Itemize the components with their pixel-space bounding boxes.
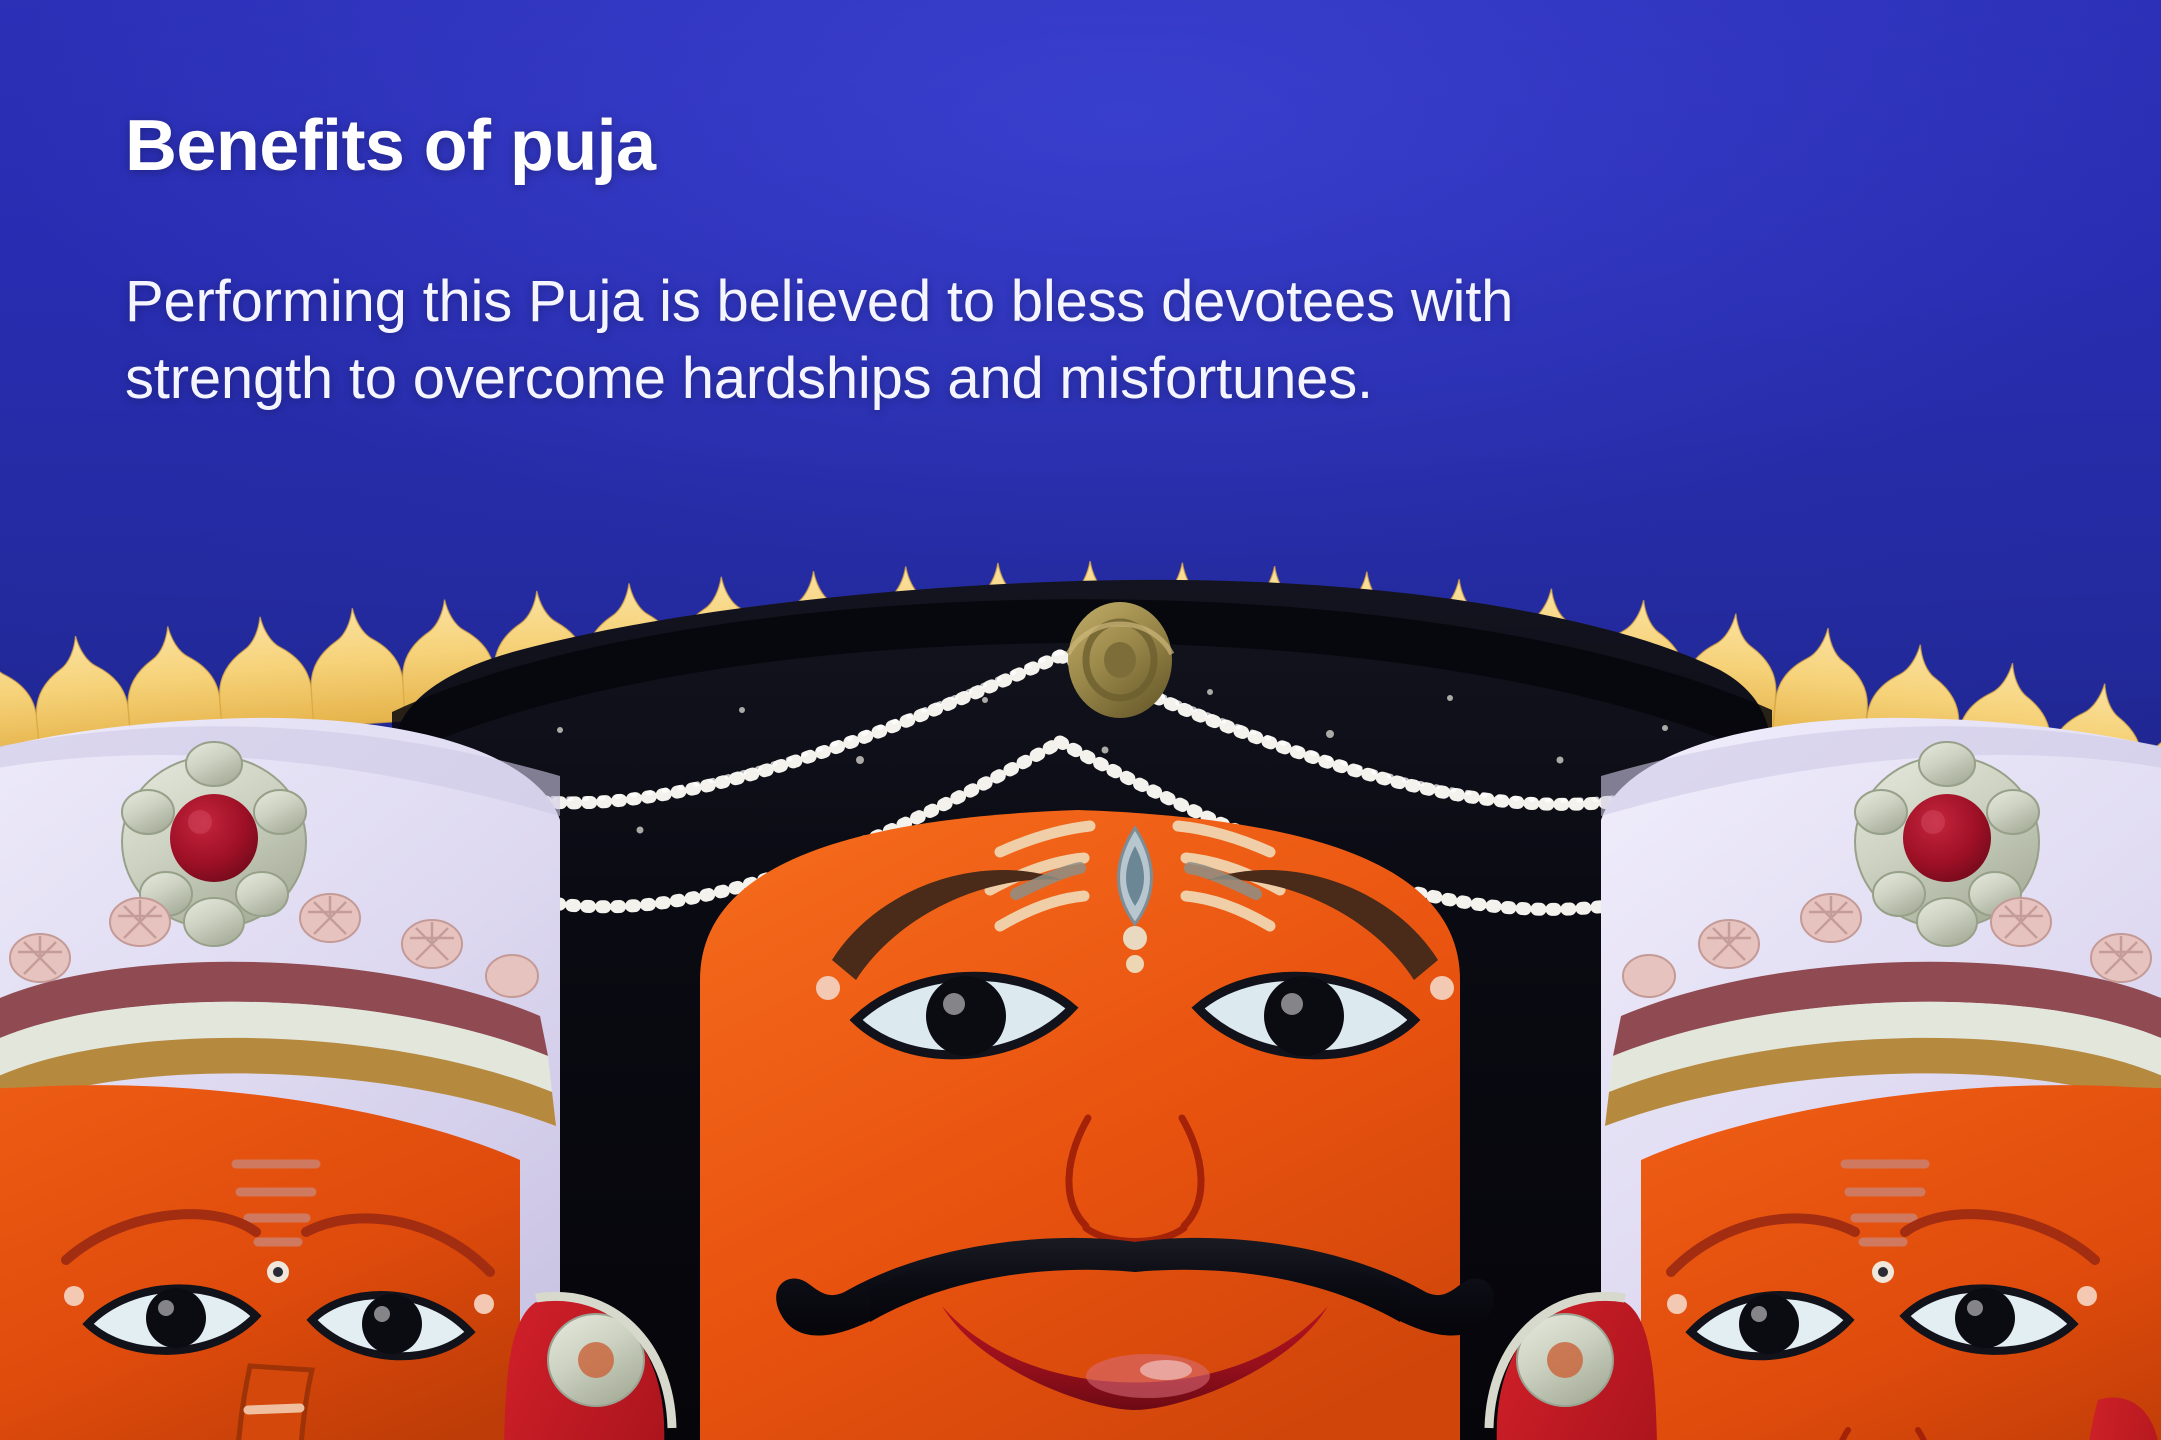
three-deity-faces-artwork <box>0 460 2161 1440</box>
right-deity-face <box>1641 1085 2161 1440</box>
page-description: Performing this Puja is believed to bles… <box>125 264 1545 417</box>
crown-gold-medallion <box>1068 602 1172 718</box>
slide-canvas: Benefits of puja Performing this Puja is… <box>0 0 2161 1440</box>
center-deity-face <box>700 810 1494 1440</box>
page-title: Benefits of puja <box>125 105 655 187</box>
